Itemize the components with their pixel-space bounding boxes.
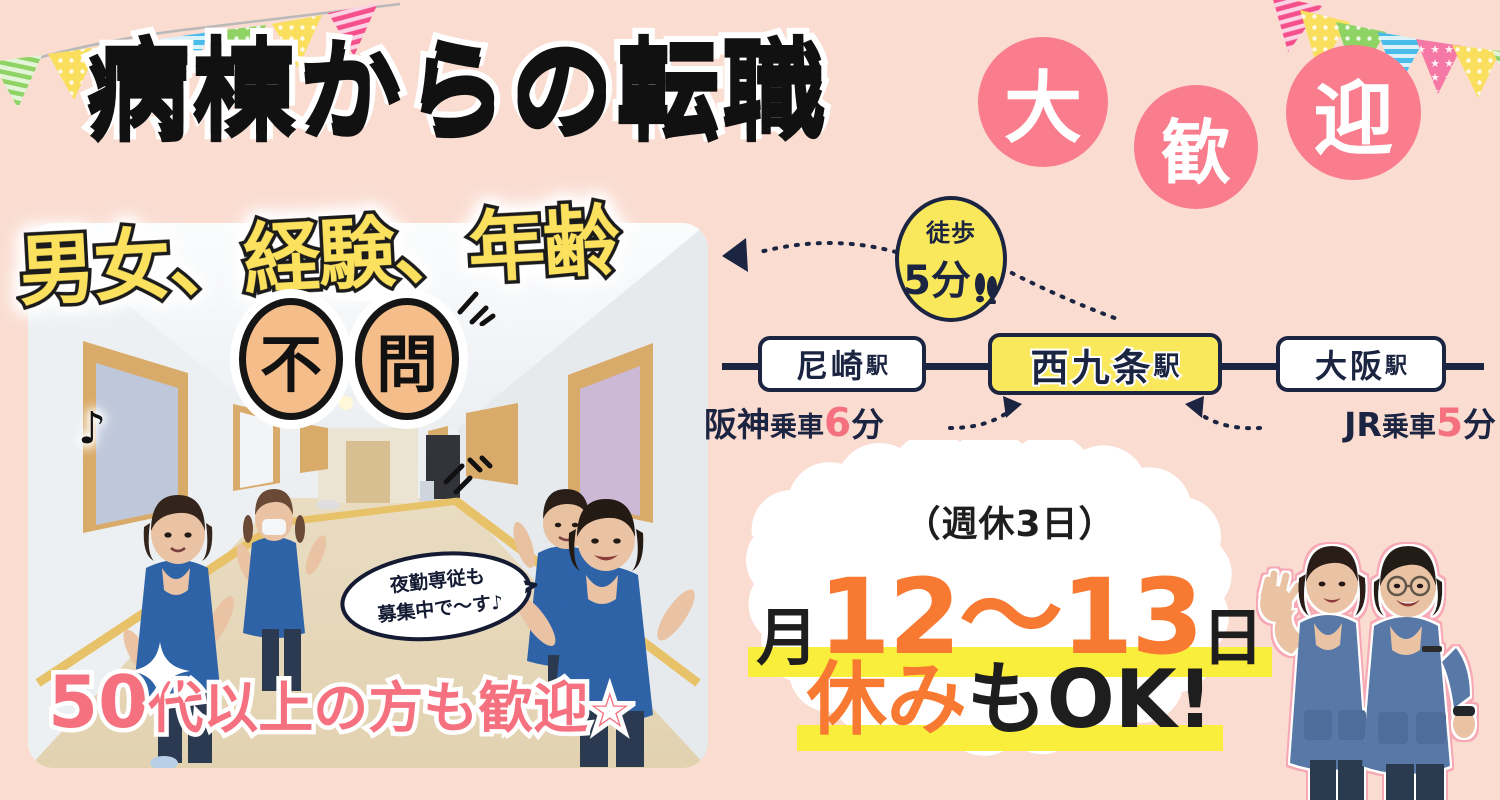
ride-jr-number: 5 (1436, 401, 1463, 446)
fifty-label: 代以上の方も歓迎 (148, 676, 588, 740)
sparkle-icon (452, 282, 496, 326)
ride-hanshin-prefix: 阪神 (704, 405, 770, 444)
walk-time-label: 徒歩 (926, 213, 976, 248)
walk-time-badge: 徒歩 5分 (895, 196, 1007, 322)
rail-line-segment (1218, 363, 1280, 370)
station-amagasaki[interactable]: 尼崎駅 (758, 336, 926, 392)
welcome-circle-dai: 大 (978, 37, 1108, 167)
staff-pair-cutout (1240, 528, 1498, 800)
ride-hanshin-number: 6 (824, 401, 851, 446)
station-osaka-suffix: 駅 (1385, 348, 1407, 380)
station-osaka-name: 大阪 (1315, 341, 1385, 387)
holiday-ok-row: 休みもOK! (700, 635, 1320, 751)
rail-line-segment (1442, 363, 1484, 370)
station-access-diagram: 尼崎駅 西九条駅 大阪駅 徒歩 5分 阪神乗車6分 (700, 190, 1500, 470)
walk-time-value: 5分 (903, 248, 971, 306)
holiday-ok-orange: 休み (807, 653, 967, 746)
headline-text: 病棟からの転職 (86, 35, 828, 157)
welcome-circle-gei: 迎 (1286, 45, 1421, 180)
welcome-circle-gei-label: 迎 (1314, 55, 1394, 171)
station-amagasaki-name: 尼崎 (796, 341, 866, 387)
speech-bubble: 夜勤専従も 募集中で〜す♪ (338, 549, 540, 643)
welcome-circle-kan-label: 歓 (1161, 97, 1231, 198)
holiday-ok-black: もOK! (967, 653, 1213, 746)
fumon-label-mon: 問 (376, 314, 438, 404)
music-note-icon: ♪ (78, 403, 106, 454)
station-nishikujo-name: 西九条 (1030, 337, 1153, 392)
ride-hanshin-mid: 乗車 (770, 412, 824, 443)
station-nishikujo[interactable]: 西九条駅 (988, 333, 1222, 395)
ride-jr-prefix: JR (1344, 405, 1382, 444)
fumon-oval-mon: 問 (355, 298, 459, 420)
ride-jr-unit: 分 (1463, 405, 1496, 444)
ride-info-jr: JR乗車5分 (1344, 398, 1496, 446)
big-sparkle-icon (126, 638, 196, 708)
fumon-label-fu: 不 (260, 314, 322, 404)
ride-info-hanshin: 阪神乗車6分 (704, 398, 884, 446)
sparkle-cross-icon (440, 448, 500, 508)
ride-jr-mid: 乗車 (1382, 412, 1436, 443)
footprint-icon (973, 270, 999, 304)
welcome-circle-dai-label: 大 (1004, 46, 1082, 158)
ride-hanshin-unit: 分 (851, 405, 884, 444)
holiday-info: （週休3日） 月12〜13日 休みもOK! (700, 440, 1320, 800)
fumon-oval-fu: 不 (239, 298, 343, 420)
fumon-group: 不 問 (239, 298, 459, 420)
main-headline: 病棟からの転職 病棟からの転職 (86, 44, 828, 148)
station-amagasaki-suffix: 駅 (866, 348, 888, 380)
rail-line-segment (922, 363, 992, 370)
station-nishikujo-suffix: 駅 (1154, 346, 1180, 383)
rail-line-segment (722, 363, 762, 370)
recruitment-banner: ★ (0, 0, 1500, 800)
fifty-star-icon: ☆ (588, 683, 631, 739)
station-osaka[interactable]: 大阪駅 (1276, 336, 1446, 392)
